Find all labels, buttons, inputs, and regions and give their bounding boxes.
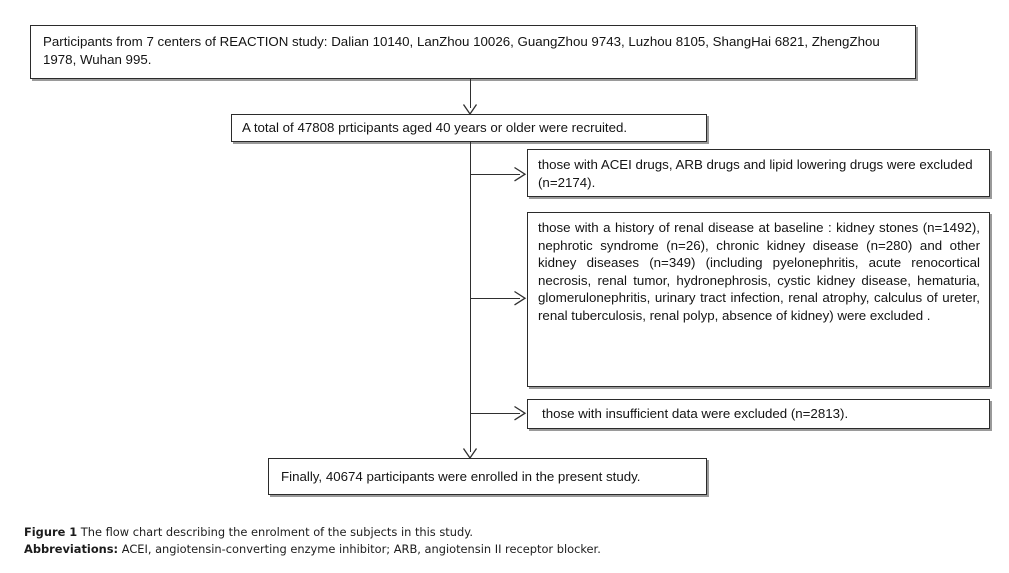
- connector-main-trunk: [470, 142, 471, 452]
- arrowhead-branch-excluded-data: [514, 406, 527, 421]
- flow-box-excluded-drugs: those with ACEI drugs, ARB drugs and lip…: [527, 149, 990, 197]
- figure-caption-label: Figure 1: [24, 525, 77, 539]
- arrowhead-trunk-to-final: [463, 448, 478, 460]
- connector-branch-excluded-data: [470, 413, 520, 414]
- abbreviations-label: Abbreviations:: [24, 542, 118, 556]
- connector-branch-excluded-drugs: [470, 174, 520, 175]
- flow-box-recruited: A total of 47808 prticipants aged 40 yea…: [231, 114, 707, 142]
- flow-box-excluded-renal-disease: those with a history of renal disease at…: [527, 212, 990, 387]
- figure-caption-line-1: Figure 1 The flow chart describing the e…: [24, 524, 964, 541]
- flow-box-excluded-drugs-text: those with ACEI drugs, ARB drugs and lip…: [538, 157, 973, 190]
- flow-box-excluded-insufficient-data: those with insufficient data were exclud…: [527, 399, 990, 429]
- arrowhead-branch-excluded-renal: [514, 291, 527, 306]
- flow-box-excluded-insufficient-data-text: those with insufficient data were exclud…: [542, 406, 848, 421]
- connector-branch-excluded-renal: [470, 298, 520, 299]
- arrowhead-branch-excluded-drugs: [514, 167, 527, 182]
- figure-caption-text: The flow chart describing the enrolment …: [77, 525, 473, 539]
- flow-box-recruited-text: A total of 47808 prticipants aged 40 yea…: [242, 120, 627, 135]
- arrowhead-source-to-recruited: [463, 104, 478, 116]
- flow-box-final-enrolled-text: Finally, 40674 participants were enrolle…: [281, 469, 640, 484]
- flow-box-source-text: Participants from 7 centers of REACTION …: [43, 34, 880, 67]
- figure-caption-line-2: Abbreviations: ACEI, angiotensin-convert…: [24, 541, 964, 558]
- flow-box-final-enrolled: Finally, 40674 participants were enrolle…: [268, 458, 707, 495]
- flow-box-excluded-renal-disease-text: those with a history of renal disease at…: [538, 220, 980, 323]
- flowchart-canvas: Participants from 7 centers of REACTION …: [0, 0, 1009, 573]
- abbreviations-text: ACEI, angiotensin-converting enzyme inhi…: [118, 542, 601, 556]
- flow-box-source-participants: Participants from 7 centers of REACTION …: [30, 25, 916, 79]
- figure-caption: Figure 1 The flow chart describing the e…: [24, 524, 964, 557]
